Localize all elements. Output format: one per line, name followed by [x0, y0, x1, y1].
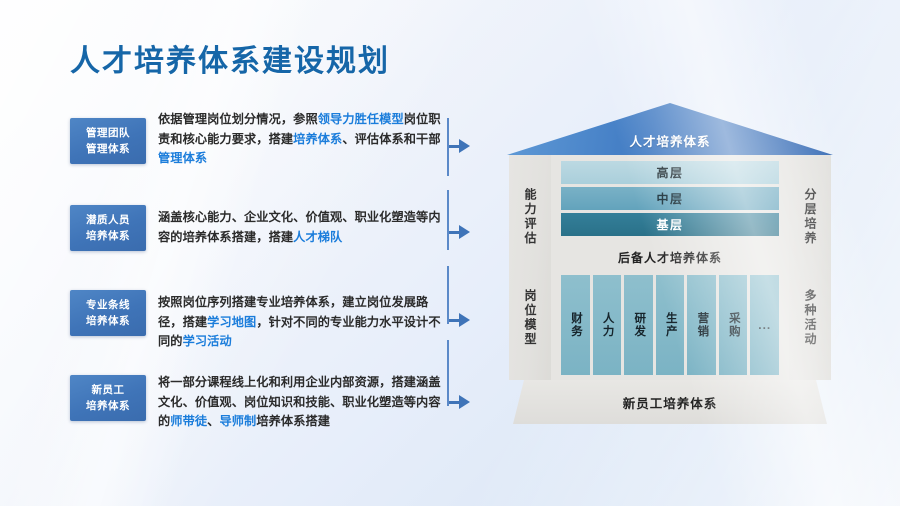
- house-body: 高层中层基层 后备人才培养体系 财务人力研发生产营销采购...: [551, 155, 789, 380]
- house-base: 新员工培养体系: [513, 380, 827, 424]
- layer-bars: 高层中层基层: [561, 161, 779, 239]
- plain-text: 依据管理岗位划分情况，参照: [158, 112, 318, 126]
- function-column: 生产: [656, 275, 685, 375]
- function-column-label: 财务: [570, 312, 582, 338]
- function-column-label: 生产: [664, 312, 676, 338]
- plain-text: 、: [207, 414, 219, 428]
- pillar-left: 能力评估 岗位模型: [509, 155, 551, 380]
- row-description: 将一部分课程线上化和利用企业内部资源，搭建涵盖文化、价值观、岗位知识和技能、职业…: [158, 373, 442, 432]
- function-column-label: 营销: [696, 312, 708, 338]
- row-description: 依据管理岗位划分情况，参照领导力胜任模型岗位职责和核心能力要求，搭建培养体系、评…: [158, 110, 442, 169]
- highlight-text: 管理体系: [158, 151, 207, 165]
- highlight-text: 领导力胜任模型: [318, 112, 404, 126]
- layer-bar-label: 中层: [656, 190, 683, 207]
- arrow-head-icon: [459, 395, 470, 409]
- row-tag-line2: 培养体系: [86, 399, 130, 414]
- roof-label: 人才培养体系: [629, 131, 710, 155]
- function-columns: 财务人力研发生产营销采购...: [561, 275, 779, 375]
- layer-bar-label: 高层: [656, 164, 683, 181]
- connector-line: [447, 118, 449, 430]
- row-tag-3[interactable]: 专业条线培养体系: [70, 290, 146, 336]
- layer-bar-1: 高层: [561, 161, 779, 184]
- arrow-head-icon: [459, 139, 470, 153]
- function-column: 财务: [561, 275, 590, 375]
- row-tag-line1: 潜质人员: [86, 213, 130, 228]
- function-column: 人力: [593, 275, 622, 375]
- function-column: ...: [750, 275, 779, 375]
- house-roof: 人才培养体系: [507, 103, 833, 155]
- highlight-text: 培养体系: [293, 132, 342, 146]
- row-tag-4[interactable]: 新员工培养体系: [70, 375, 146, 421]
- highlight-text: 学习活动: [183, 334, 232, 348]
- pillar-right-bottom-label: 多种活动: [804, 289, 816, 347]
- house-diagram: 人才培养体系 能力评估 岗位模型 分层培养 多种活动 高层中层基层 后备人才培养…: [505, 103, 835, 433]
- plain-text: 培养体系搭建: [256, 414, 330, 428]
- row-tag-line2: 培养体系: [86, 229, 130, 244]
- highlight-text: 人才梯队: [293, 230, 342, 244]
- connector-segment: [447, 340, 449, 406]
- arrow-tail: [449, 401, 459, 404]
- plain-text: 、评估体系和干部: [342, 132, 440, 146]
- highlight-text: 师带徒: [170, 414, 207, 428]
- pillar-right-top-label: 分层培养: [804, 188, 816, 246]
- connector-segment: [447, 190, 449, 250]
- arrow-head-icon: [459, 225, 470, 239]
- layer-bar-3: 基层: [561, 213, 779, 236]
- connector-segment: [447, 266, 449, 324]
- row-tag-line2: 培养体系: [86, 314, 130, 329]
- function-column: 研发: [624, 275, 653, 375]
- pillar-left-top-label: 能力评估: [524, 188, 536, 246]
- pillar-left-bottom-label: 岗位模型: [524, 289, 536, 347]
- pillar-right: 分层培养 多种活动: [789, 155, 831, 380]
- arrow-tail: [449, 231, 459, 234]
- function-column-label: 研发: [633, 312, 645, 338]
- row-tag-line1: 专业条线: [86, 298, 130, 313]
- row-description: 涵盖核心能力、企业文化、价值观、职业化塑造等内容的培养体系搭建，搭建人才梯队: [158, 208, 442, 247]
- function-column-label: 采购: [727, 312, 739, 338]
- arrow-tail: [449, 319, 459, 322]
- row-tag-2[interactable]: 潜质人员培养体系: [70, 205, 146, 251]
- highlight-text: 导师制: [219, 414, 256, 428]
- highlight-text: 学习地图: [207, 315, 256, 329]
- function-column: 营销: [687, 275, 716, 375]
- row-tag-line1: 新员工: [92, 383, 125, 398]
- function-column-label: ...: [758, 319, 771, 331]
- slide-canvas: 人才培养体系建设规划 管理团队管理体系依据管理岗位划分情况，参照领导力胜任模型岗…: [0, 0, 900, 506]
- row-description: 按照岗位序列搭建专业培养体系，建立岗位发展路径，搭建学习地图，针对不同的专业能力…: [158, 293, 442, 352]
- arrow-head-icon: [459, 313, 470, 327]
- layer-bar-label: 基层: [656, 216, 683, 233]
- base-label: 新员工培养体系: [623, 393, 718, 412]
- row-tag-1[interactable]: 管理团队管理体系: [70, 118, 146, 164]
- function-column-label: 人力: [601, 312, 613, 338]
- reserve-talent-label: 后备人才培养体系: [561, 241, 779, 273]
- layer-bar-2: 中层: [561, 187, 779, 210]
- page-title: 人才培养体系建设规划: [70, 36, 390, 80]
- function-column: 采购: [719, 275, 748, 375]
- row-tag-line1: 管理团队: [86, 126, 130, 141]
- arrow-tail: [449, 145, 459, 148]
- row-tag-line2: 管理体系: [86, 142, 130, 157]
